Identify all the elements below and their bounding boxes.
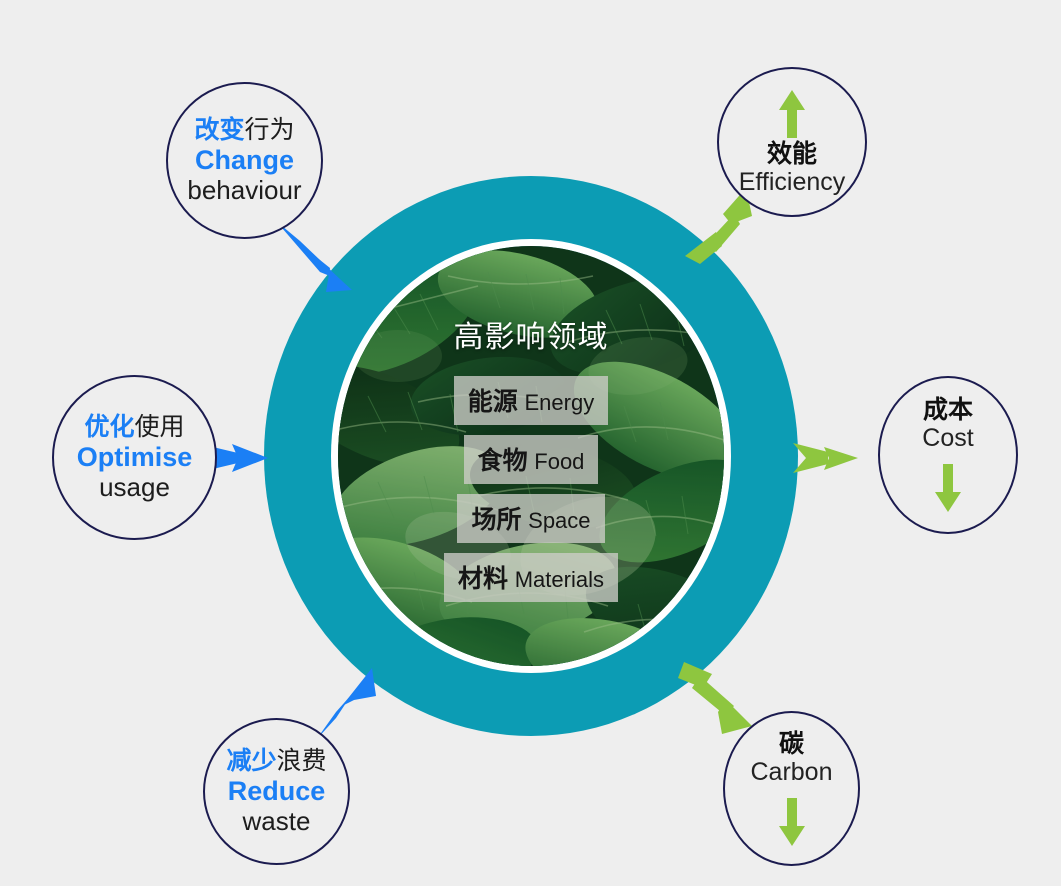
node-cost[interactable]: 成本 Cost xyxy=(878,376,1018,534)
node-change-en-rest: behaviour xyxy=(187,176,301,205)
node-optimise-en-rest: usage xyxy=(99,473,170,502)
arrow-change-to-ring xyxy=(276,221,352,292)
node-carbon-en: Carbon xyxy=(751,758,833,786)
node-change-zh: 改变行为 xyxy=(194,116,294,144)
arrow-reduce-to-ring xyxy=(316,668,376,740)
node-change-behaviour[interactable]: 改变行为 Change behaviour xyxy=(166,82,323,239)
node-cost-zh: 成本 xyxy=(923,396,973,424)
arrow-ring-to-cost xyxy=(793,443,858,473)
node-efficiency[interactable]: 效能 Efficiency xyxy=(717,67,867,217)
node-carbon-zh: 碳 xyxy=(779,730,804,758)
node-reduce-waste[interactable]: 减少浪费 Reduce waste xyxy=(203,718,350,865)
node-optimise-usage[interactable]: 优化使用 Optimise usage xyxy=(52,375,217,540)
node-reduce-en-rest: waste xyxy=(243,807,311,836)
node-change-en-accent: Change xyxy=(195,145,294,175)
node-reduce-zh: 减少浪费 xyxy=(226,747,326,775)
node-reduce-en-accent: Reduce xyxy=(228,776,326,806)
node-optimise-en-accent: Optimise xyxy=(77,442,193,472)
node-efficiency-en: Efficiency xyxy=(739,168,846,196)
node-cost-en: Cost xyxy=(922,424,973,452)
trend-up-icon xyxy=(777,88,807,140)
node-efficiency-zh: 效能 xyxy=(767,140,817,168)
trend-down-icon xyxy=(933,462,963,514)
diagram-canvas: 高影响领域 能源 Energy 食物 Food 场所 Space 材料 Mate… xyxy=(0,0,1061,886)
arrow-ring-to-carbon xyxy=(678,662,752,734)
trend-down-icon xyxy=(777,796,807,848)
node-optimise-zh: 优化使用 xyxy=(84,413,184,441)
node-carbon[interactable]: 碳 Carbon xyxy=(723,711,860,866)
